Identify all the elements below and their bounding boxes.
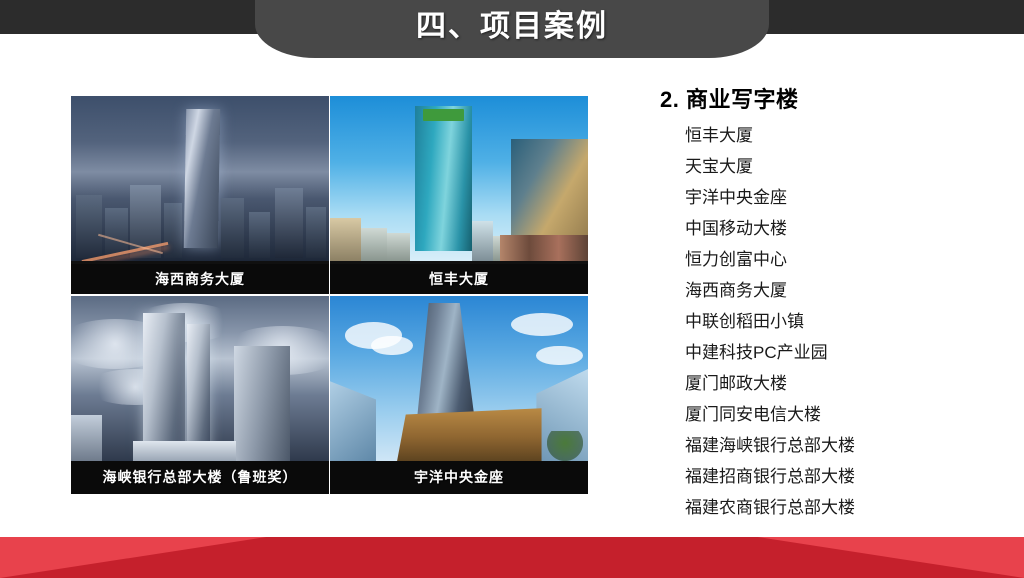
content-panel: 2. 商业写字楼 恒丰大厦 天宝大厦 宇洋中央金座 中国移动大楼 恒力创富中心 …: [655, 82, 1005, 523]
list-item: 中联创稻田小镇: [685, 306, 1005, 337]
building-photo-yuyang-central-plaza: [330, 296, 588, 461]
building-photo-hengfeng-tower: [330, 96, 588, 261]
slide-footer: [0, 537, 1024, 578]
list-item: 中建科技PC产业园: [685, 337, 1005, 368]
building-photo-haixi-business-tower: [71, 96, 329, 261]
list-item: 宇洋中央金座: [685, 182, 1005, 213]
photo-caption: 恒丰大厦: [330, 264, 588, 294]
list-item: 福建海峡银行总部大楼: [685, 430, 1005, 461]
list-item: 天宝大厦: [685, 151, 1005, 182]
list-item: 中国移动大楼: [685, 213, 1005, 244]
project-list: 恒丰大厦 天宝大厦 宇洋中央金座 中国移动大楼 恒力创富中心 海西商务大厦 中联…: [655, 120, 1005, 523]
photo-caption: 海峡银行总部大楼（鲁班奖）: [71, 461, 329, 494]
list-item: 厦门同安电信大楼: [685, 399, 1005, 430]
slide-title: 四、项目案例: [255, 0, 769, 56]
gallery-cell[interactable]: 海西商务大厦: [71, 96, 329, 294]
slide-header: 四、项目案例: [0, 0, 1024, 62]
gallery-cell[interactable]: 海峡银行总部大楼（鲁班奖）: [71, 296, 329, 494]
list-item: 恒力创富中心: [685, 244, 1005, 275]
photo-caption: 海西商务大厦: [71, 264, 329, 294]
list-item: 福建农商银行总部大楼: [685, 492, 1005, 523]
project-photo-grid: 海西商务大厦 恒丰大厦 海峡银行总部大楼（鲁班奖）: [71, 96, 588, 494]
building-photo-haixia-bank-headquarters: [71, 296, 329, 461]
list-item: 福建招商银行总部大楼: [685, 461, 1005, 492]
list-item: 厦门邮政大楼: [685, 368, 1005, 399]
photo-caption: 宇洋中央金座: [330, 461, 588, 494]
list-item: 恒丰大厦: [685, 120, 1005, 151]
list-item: 海西商务大厦: [685, 275, 1005, 306]
footer-wedge: [0, 537, 1024, 578]
section-heading: 2. 商业写字楼: [660, 82, 1005, 114]
gallery-cell[interactable]: 宇洋中央金座: [330, 296, 588, 494]
gallery-cell[interactable]: 恒丰大厦: [330, 96, 588, 294]
